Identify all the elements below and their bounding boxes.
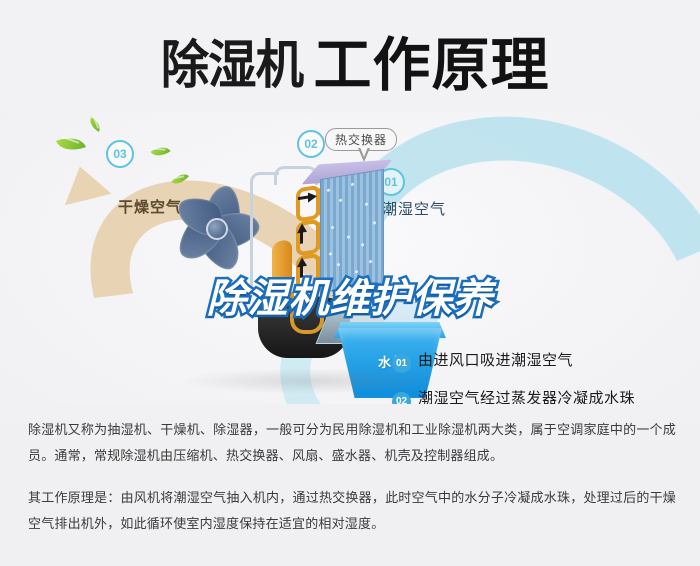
paragraph: 除湿机又称为抽湿机、干燥机、除湿器，一般可分为民用除湿机和工业除湿机两大类，属于…: [28, 418, 676, 470]
evaporator-fin-block: [320, 169, 384, 293]
list-item: 02 潮湿空气经过蒸发器冷凝成水珠: [392, 390, 692, 404]
step-text: 由进风口吸进潮湿空气: [418, 352, 573, 371]
paragraph: 其工作原理是：由风机将潮湿空气抽入机内，通过热交换器，此时空气中的水分子冷凝成水…: [28, 486, 676, 538]
step-badge: 01: [392, 354, 411, 373]
step-list: 01 由进风口吸进潮湿空气 02 潮湿空气经过蒸发器冷凝成水珠 03 从上部出风…: [392, 352, 692, 404]
working-principle-diagram: 干燥空气 潮湿空气 03 02 01 热交换器: [0, 112, 700, 404]
leaf-icon: [56, 132, 86, 156]
title-part-two: 工作原理: [314, 18, 550, 102]
page-root: 除湿机 工作原理 干燥空气 潮湿空气 03 02 01 热交换器: [0, 0, 700, 566]
step-badge: 02: [392, 392, 411, 404]
fan-hub-icon: [206, 218, 228, 240]
compressor-icon: [272, 239, 292, 300]
description-text: 除湿机又称为抽湿机、干燥机、除湿器，一般可分为民用除湿机和工业除湿机两大类，属于…: [28, 418, 676, 554]
leaf-icon: [87, 117, 104, 132]
drain-pipe-icon: [290, 292, 324, 334]
dehumidifier-unit-illustration: 水箱: [250, 152, 420, 382]
leaf-icon: [150, 142, 170, 161]
step-text: 潮湿空气经过蒸发器冷凝成水珠: [418, 390, 635, 404]
title-part-one: 除湿机: [161, 23, 303, 98]
dry-airflow-arrow-icon: [57, 161, 112, 206]
diagram-badge-03: 03: [106, 140, 134, 168]
list-item: 01 由进风口吸进潮湿空气: [392, 352, 692, 373]
page-title: 除湿机 工作原理: [0, 24, 700, 96]
